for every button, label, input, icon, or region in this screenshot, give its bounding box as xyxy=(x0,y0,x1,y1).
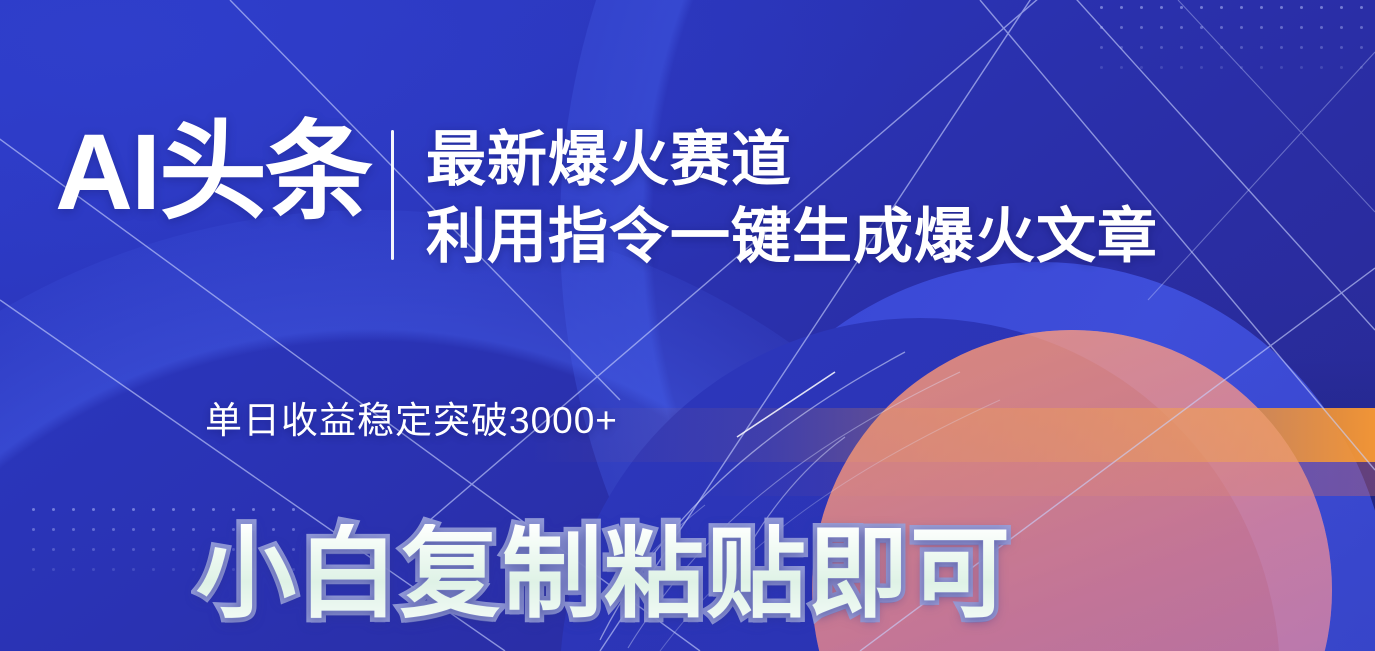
grid-dot xyxy=(72,548,75,551)
grid-dot xyxy=(32,548,35,551)
grid-dot xyxy=(1220,26,1223,29)
grid-dot xyxy=(72,568,75,571)
grid-dot xyxy=(92,528,95,531)
headline-block: AI头条 最新爆火赛道 利用指令一键生成爆火文章 xyxy=(55,118,1158,276)
grid-dot xyxy=(212,508,215,511)
grid-dot xyxy=(1180,46,1183,49)
grid-dot xyxy=(1180,66,1183,69)
grid-dot xyxy=(1260,46,1263,49)
grid-dot xyxy=(32,528,35,531)
grid-dot xyxy=(132,508,135,511)
bottom-callout-text: 小白复制粘贴即可 xyxy=(196,524,1012,624)
grid-dot xyxy=(1340,46,1343,49)
headline-line-1: 最新爆火赛道 xyxy=(426,122,1158,199)
grid-dot xyxy=(1360,26,1363,29)
grid-dot xyxy=(172,528,175,531)
grid-dot xyxy=(132,568,135,571)
grid-dot xyxy=(1240,66,1243,69)
grid-dot xyxy=(52,548,55,551)
grid-dot xyxy=(152,548,155,551)
grid-dot xyxy=(132,548,135,551)
grid-dot xyxy=(32,568,35,571)
grid-dot xyxy=(32,508,35,511)
grid-dot xyxy=(1140,66,1143,69)
grid-dot xyxy=(1140,46,1143,49)
dot-row xyxy=(1100,6,1375,26)
grid-dot xyxy=(1140,26,1143,29)
grid-dot xyxy=(112,508,115,511)
grid-dot xyxy=(52,568,55,571)
dot-row xyxy=(1100,66,1375,86)
headline-line-2: 利用指令一键生成爆火文章 xyxy=(426,199,1158,276)
grid-dot xyxy=(1200,46,1203,49)
grid-dot xyxy=(172,548,175,551)
grid-dot xyxy=(1260,26,1263,29)
grid-dot xyxy=(152,528,155,531)
grid-dot xyxy=(1240,6,1243,9)
grid-dot xyxy=(1280,46,1283,49)
grid-dot xyxy=(52,528,55,531)
grid-dot xyxy=(192,548,195,551)
grid-dot xyxy=(1320,6,1323,9)
grid-dot xyxy=(192,528,195,531)
grid-dot xyxy=(1120,46,1123,49)
grid-dot xyxy=(1240,46,1243,49)
grid-dot xyxy=(1320,46,1323,49)
grid-dot xyxy=(1300,26,1303,29)
dot-row xyxy=(1100,26,1375,46)
grid-dot xyxy=(1360,66,1363,69)
headline-lines: 最新爆火赛道 利用指令一键生成爆火文章 xyxy=(426,118,1158,276)
grid-dot xyxy=(1360,46,1363,49)
grid-dot xyxy=(1300,46,1303,49)
grid-dot xyxy=(1120,6,1123,9)
grid-dot xyxy=(172,508,175,511)
grid-dot xyxy=(1140,6,1143,9)
grid-dot xyxy=(1160,26,1163,29)
grid-dot xyxy=(192,508,195,511)
grid-dot xyxy=(1100,6,1103,9)
grid-dot xyxy=(72,508,75,511)
subtitle-text: 单日收益稳定突破3000+ xyxy=(205,390,618,444)
grid-dot xyxy=(1160,46,1163,49)
headline-divider xyxy=(391,130,394,260)
grid-dot xyxy=(272,508,275,511)
grid-dot xyxy=(192,568,195,571)
grid-dot xyxy=(1260,66,1263,69)
grid-dot xyxy=(1340,26,1343,29)
grid-dot xyxy=(1100,46,1103,49)
grid-dot xyxy=(1160,6,1163,9)
grid-dot xyxy=(1200,6,1203,9)
grid-dot xyxy=(152,568,155,571)
promo-banner: AI头条 最新爆火赛道 利用指令一键生成爆火文章 单日收益稳定突破3000+ 小… xyxy=(0,0,1375,651)
grid-dot xyxy=(1320,26,1323,29)
grid-dot xyxy=(1220,46,1223,49)
grid-dot xyxy=(1320,66,1323,69)
grid-dot xyxy=(1360,6,1363,9)
grid-dot xyxy=(1220,6,1223,9)
grid-dot xyxy=(1260,6,1263,9)
grid-dot xyxy=(112,528,115,531)
grid-dot xyxy=(1180,6,1183,9)
grid-dot xyxy=(112,568,115,571)
grid-dot xyxy=(1280,6,1283,9)
grid-dot xyxy=(1300,66,1303,69)
grid-dot xyxy=(252,508,255,511)
grid-dot xyxy=(112,548,115,551)
dot-row xyxy=(1100,46,1375,66)
grid-dot xyxy=(1240,26,1243,29)
grid-dot xyxy=(1180,26,1183,29)
grid-dot xyxy=(1160,66,1163,69)
grid-dot xyxy=(1340,66,1343,69)
grid-dot xyxy=(1100,66,1103,69)
grid-dot xyxy=(1220,66,1223,69)
dot-grid-top-right xyxy=(1100,6,1375,86)
grid-dot xyxy=(132,528,135,531)
grid-dot xyxy=(1340,6,1343,9)
grid-dot xyxy=(52,508,55,511)
grid-dot xyxy=(1120,26,1123,29)
grid-dot xyxy=(1300,6,1303,9)
grid-dot xyxy=(1120,66,1123,69)
grid-dot xyxy=(92,508,95,511)
grid-dot xyxy=(1280,66,1283,69)
grid-dot xyxy=(1280,26,1283,29)
grid-dot xyxy=(292,508,295,511)
grid-dot xyxy=(1200,66,1203,69)
brand-title: AI头条 xyxy=(55,118,371,226)
grid-dot xyxy=(1100,26,1103,29)
grid-dot xyxy=(172,568,175,571)
grid-dot xyxy=(1200,26,1203,29)
grid-dot xyxy=(152,508,155,511)
grid-dot xyxy=(232,508,235,511)
grid-dot xyxy=(92,568,95,571)
grid-dot xyxy=(72,528,75,531)
grid-dot xyxy=(92,548,95,551)
